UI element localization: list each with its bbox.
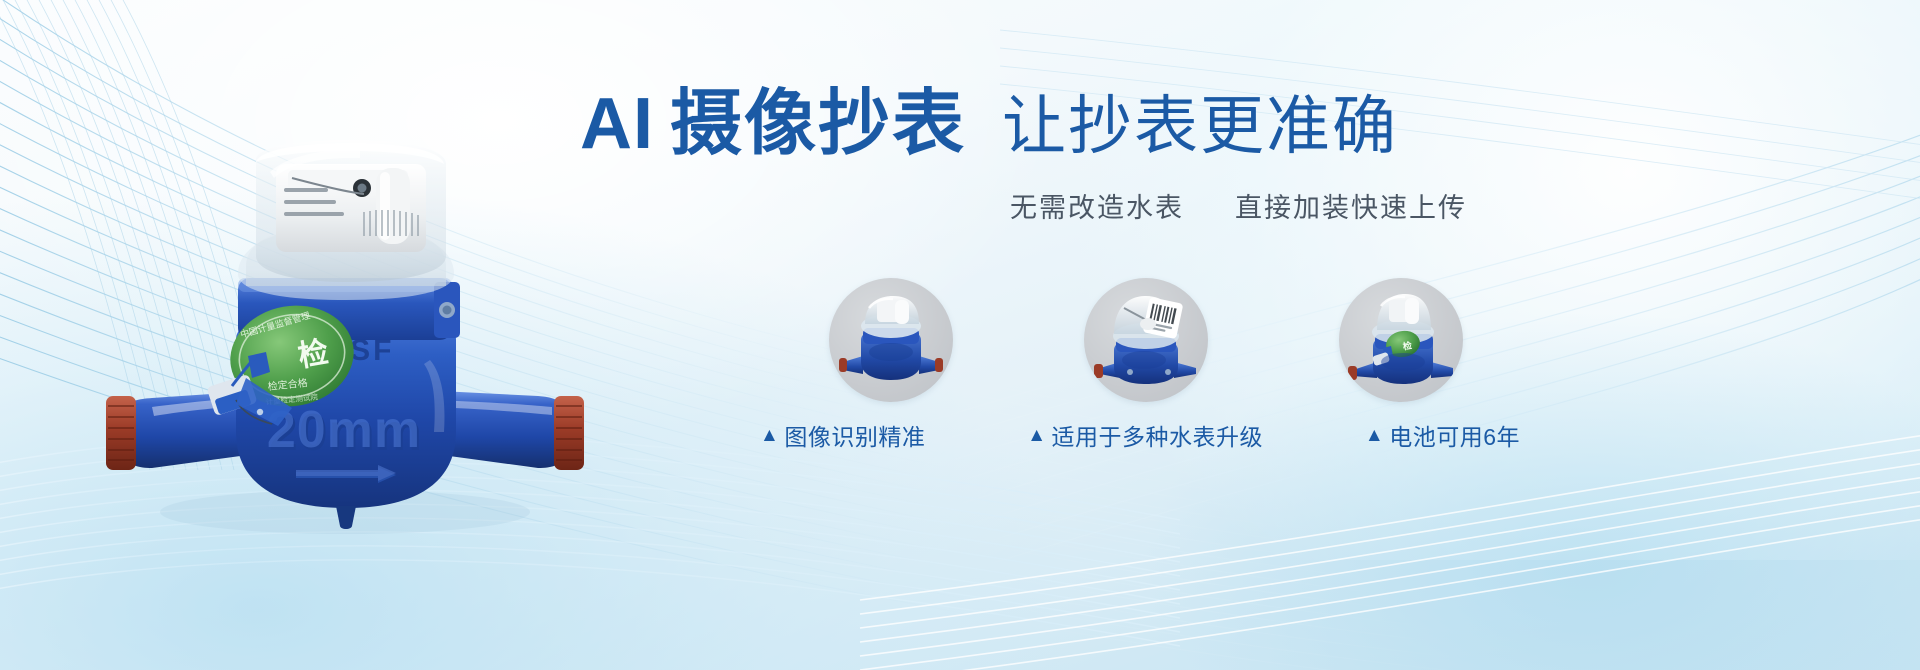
- headline-ai: AI: [580, 88, 654, 160]
- headline: AI 摄像抄表 让抄表更准确: [580, 88, 1890, 160]
- hero-clear-dome: [238, 140, 454, 300]
- feature-caption-1: ▲ 图像识别精准: [760, 418, 925, 452]
- feature-caption-3: ▲ 电池可用6年: [1365, 418, 1520, 452]
- feature-thumbnail-row: 检: [786, 278, 1506, 518]
- feature-caption-2-text: 适用于多种水表升级: [1052, 418, 1264, 452]
- svg-text:检: 检: [1402, 339, 1413, 351]
- feature-caption-row: ▲ 图像识别精准 ▲ 适用于多种水表升级 ▲ 电池可用6年: [760, 418, 1520, 452]
- feature-thumb-1: [829, 278, 953, 402]
- feature-caption-3-text: 电池可用6年: [1389, 418, 1520, 452]
- triangle-marker-icon: ▲: [1365, 426, 1384, 445]
- subline-part2: 直接加装快速上传: [1235, 193, 1467, 223]
- hero-product-image: 20mm 20mm NSF: [60, 60, 620, 560]
- svg-text:检: 检: [296, 335, 331, 374]
- subline-part1: 无需改造水表: [1010, 193, 1184, 223]
- triangle-marker-icon: ▲: [1027, 426, 1046, 445]
- copy-block: AI 摄像抄表 让抄表更准确 无需改造水表 直接加装快速上传: [580, 88, 1890, 225]
- feature-caption-1-text: 图像识别精准: [784, 418, 925, 452]
- feature-thumb-2: [1084, 278, 1208, 402]
- headline-main: 摄像抄表: [670, 88, 966, 160]
- promo-banner: 20mm 20mm NSF: [0, 0, 1920, 670]
- triangle-marker-icon: ▲: [760, 426, 779, 445]
- feature-item: [786, 278, 996, 518]
- feature-thumb-3: 检: [1339, 278, 1463, 402]
- feature-caption-2: ▲ 适用于多种水表升级: [1027, 418, 1263, 452]
- headline-sub: 让抄表更准确: [1002, 94, 1398, 158]
- feature-item: [1041, 278, 1251, 518]
- subline: 无需改造水表 直接加装快速上传: [1010, 186, 1890, 225]
- feature-item: 检: [1296, 278, 1506, 518]
